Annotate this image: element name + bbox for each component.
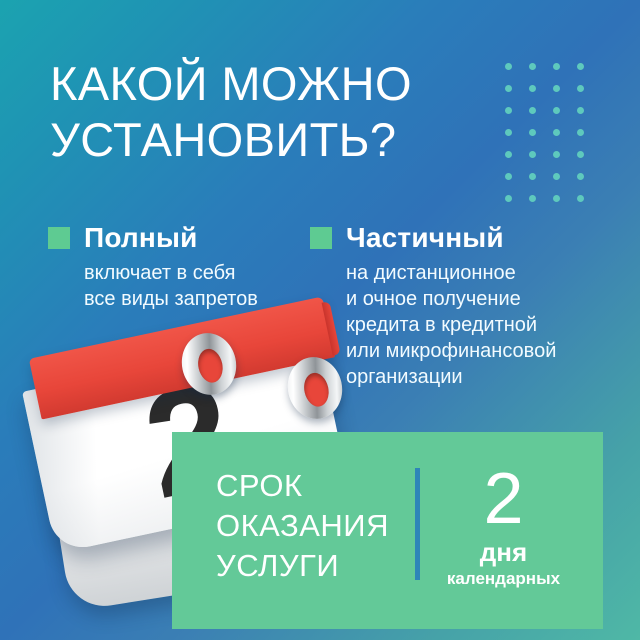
dot <box>577 173 584 180</box>
dot <box>553 151 560 158</box>
service-term-value: 2 дня календарных <box>420 462 583 589</box>
option-full: Полный включает в себя все виды запретов <box>48 222 298 312</box>
dot <box>505 173 512 180</box>
dot-grid-decoration <box>505 63 601 215</box>
infographic-poster: КАКОЙ МОЖНО УСТАНОВИТЬ? Полный включает … <box>0 0 640 640</box>
page-title: КАКОЙ МОЖНО УСТАНОВИТЬ? <box>50 56 500 168</box>
dot <box>529 195 536 202</box>
square-bullet-icon <box>310 227 332 249</box>
service-term-panel: СРОК ОКАЗАНИЯ УСЛУГИ 2 дня календарных <box>172 432 603 629</box>
option-partial-header: Частичный <box>310 222 610 254</box>
dot <box>529 173 536 180</box>
service-term-content: СРОК ОКАЗАНИЯ УСЛУГИ 2 дня календарных <box>216 462 583 615</box>
dot <box>577 195 584 202</box>
dot <box>529 129 536 136</box>
service-term-label: СРОК ОКАЗАНИЯ УСЛУГИ <box>216 462 389 586</box>
service-term-unit: дня <box>424 538 583 566</box>
option-full-title: Полный <box>84 222 198 254</box>
dot <box>577 151 584 158</box>
dot <box>529 85 536 92</box>
dot <box>553 85 560 92</box>
service-term-number: 2 <box>424 462 583 536</box>
dot <box>553 107 560 114</box>
dot <box>505 195 512 202</box>
dot <box>577 85 584 92</box>
dot <box>553 129 560 136</box>
option-full-header: Полный <box>48 222 298 254</box>
dot <box>553 63 560 70</box>
dot <box>505 129 512 136</box>
dot <box>529 151 536 158</box>
square-bullet-icon <box>48 227 70 249</box>
service-term-subtitle: календарных <box>424 569 583 589</box>
dot <box>577 129 584 136</box>
dot <box>577 63 584 70</box>
option-full-description: включает в себя все виды запретов <box>48 260 298 312</box>
dot <box>505 85 512 92</box>
dot <box>505 151 512 158</box>
dot <box>529 63 536 70</box>
dot <box>505 63 512 70</box>
dot <box>553 173 560 180</box>
dot <box>553 195 560 202</box>
dot <box>505 107 512 114</box>
dot <box>577 107 584 114</box>
dot <box>529 107 536 114</box>
option-partial-title: Частичный <box>346 222 504 254</box>
